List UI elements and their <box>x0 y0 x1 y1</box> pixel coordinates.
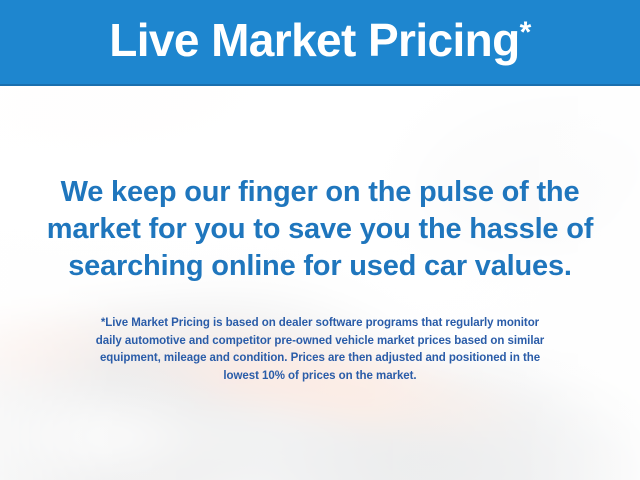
banner-title: Live Market Pricing* <box>109 17 531 63</box>
banner-content: We keep our finger on the pulse of the m… <box>0 86 640 480</box>
disclaimer-line: equipment, mileage and condition. Prices… <box>32 350 608 368</box>
live-market-pricing-banner: Live Market Pricing* We keep our finger … <box>0 0 640 480</box>
headline-block: We keep our finger on the pulse of the m… <box>28 174 612 285</box>
banner-title-text: Live Market Pricing <box>109 14 519 66</box>
headline-line: searching online for used car values. <box>28 248 612 285</box>
banner-header-bar: Live Market Pricing* <box>0 0 640 86</box>
disclaimer-block: *Live Market Pricing is based on dealer … <box>32 315 608 385</box>
headline-line: market for you to save you the hassle of <box>28 211 612 248</box>
disclaimer-line: *Live Market Pricing is based on dealer … <box>32 315 608 333</box>
disclaimer-line: lowest 10% of prices on the market. <box>32 368 608 386</box>
disclaimer-line: daily automotive and competitor pre-owne… <box>32 333 608 351</box>
headline-line: We keep our finger on the pulse of the <box>28 174 612 211</box>
banner-title-asterisk: * <box>520 16 531 49</box>
